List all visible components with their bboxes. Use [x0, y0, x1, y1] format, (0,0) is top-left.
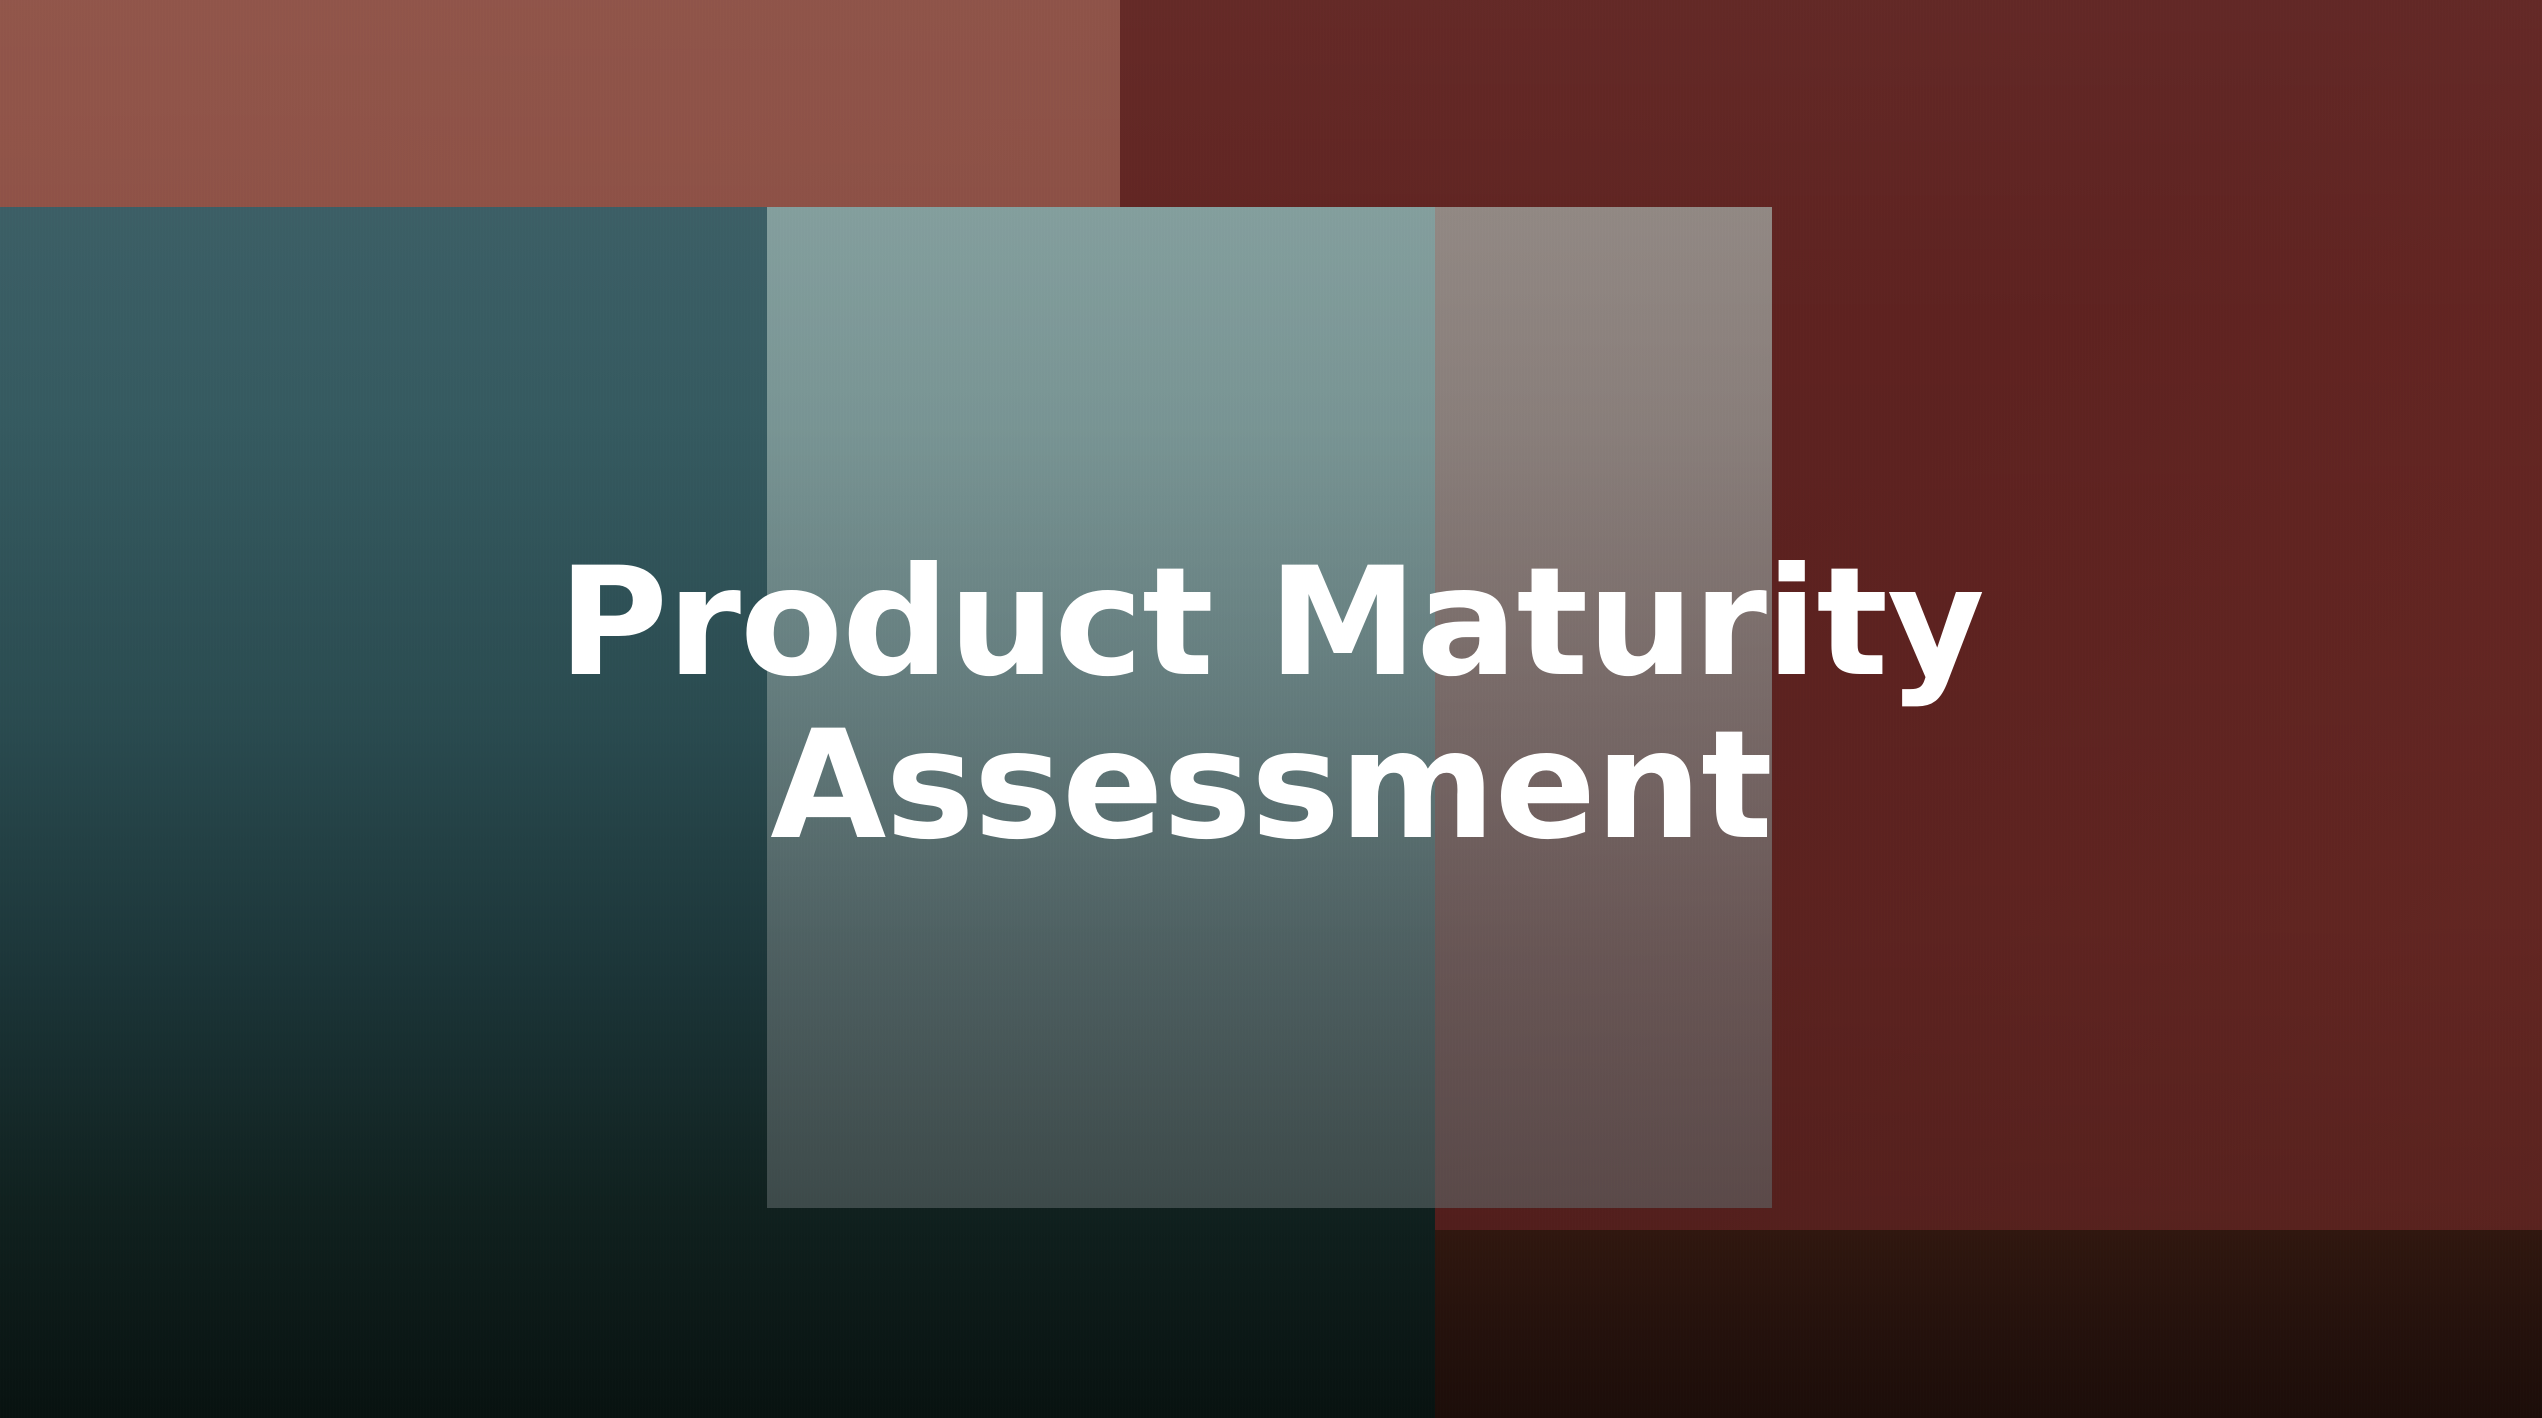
slide-canvas: Product Maturity Assessment [0, 0, 2542, 1418]
background-sage-overlay-plate [767, 207, 1772, 1208]
background-umber-bottom-plate [1435, 1230, 2542, 1418]
